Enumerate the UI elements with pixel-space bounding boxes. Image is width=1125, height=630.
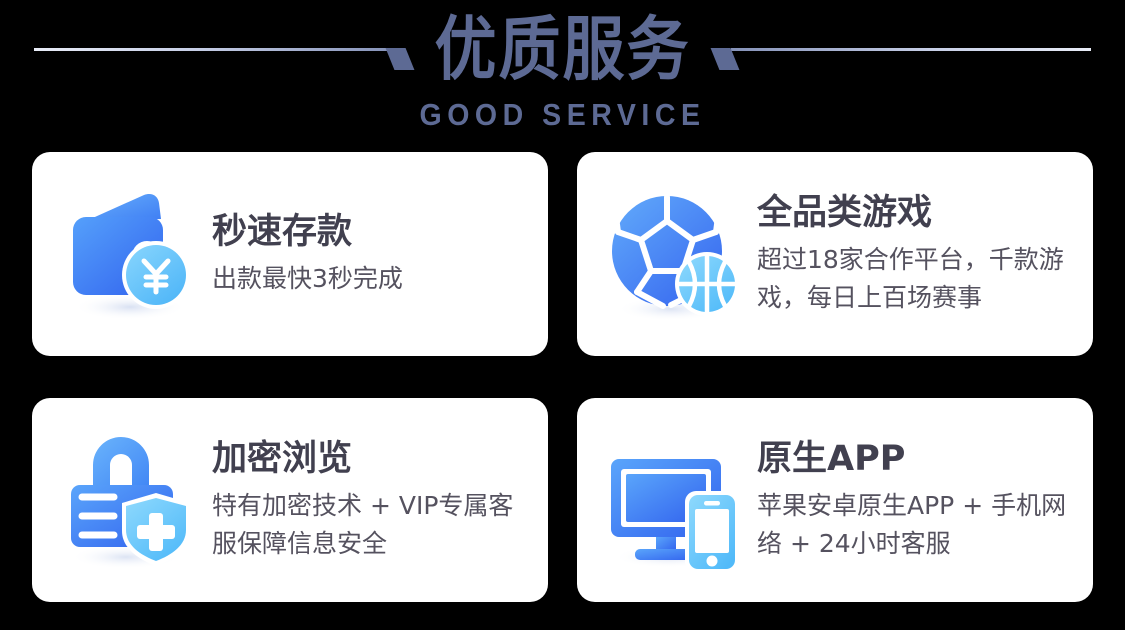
card-text-games: 全品类游戏 超过18家合作平台，千款游戏，每日上百场赛事 [757, 191, 1075, 317]
card-description: 苹果安卓原生APP + 手机网络 + 24小时客服 [757, 487, 1075, 563]
feature-card-native-app[interactable]: 原生APP 苹果安卓原生APP + 手机网络 + 24小时客服 [577, 398, 1093, 602]
wallet-yen-icon [56, 179, 204, 329]
page-title-cn: 优质服务 [0, 6, 1125, 93]
card-text-deposit: 秒速存款 出款最快3秒完成 [212, 210, 530, 298]
page-header: 优质服务 GOOD SERVICE [0, 0, 1125, 150]
lock-shield-icon [56, 425, 204, 575]
card-title: 秒速存款 [212, 210, 530, 254]
feature-card-games[interactable]: 全品类游戏 超过18家合作平台，千款游戏，每日上百场赛事 [577, 152, 1093, 356]
page-title-en: GOOD SERVICE [45, 98, 1080, 132]
card-description: 超过18家合作平台，千款游戏，每日上百场赛事 [757, 241, 1075, 317]
page-title: 优质服务 GOOD SERVICE [0, 6, 1125, 132]
card-title: 原生APP [757, 437, 1075, 481]
card-title: 全品类游戏 [757, 191, 1075, 235]
card-text-encryption: 加密浏览 特有加密技术 + VIP专属客服保障信息安全 [212, 437, 530, 563]
card-title: 加密浏览 [212, 437, 530, 481]
monitor-phone-icon [601, 425, 749, 575]
feature-card-encryption[interactable]: 加密浏览 特有加密技术 + VIP专属客服保障信息安全 [32, 398, 548, 602]
soccer-basketball-icon [601, 179, 749, 329]
feature-card-grid: 秒速存款 出款最快3秒完成 [32, 152, 1093, 602]
card-description: 特有加密技术 + VIP专属客服保障信息安全 [212, 487, 530, 563]
feature-card-deposit[interactable]: 秒速存款 出款最快3秒完成 [32, 152, 548, 356]
card-text-native-app: 原生APP 苹果安卓原生APP + 手机网络 + 24小时客服 [757, 437, 1075, 563]
card-description: 出款最快3秒完成 [212, 260, 530, 298]
